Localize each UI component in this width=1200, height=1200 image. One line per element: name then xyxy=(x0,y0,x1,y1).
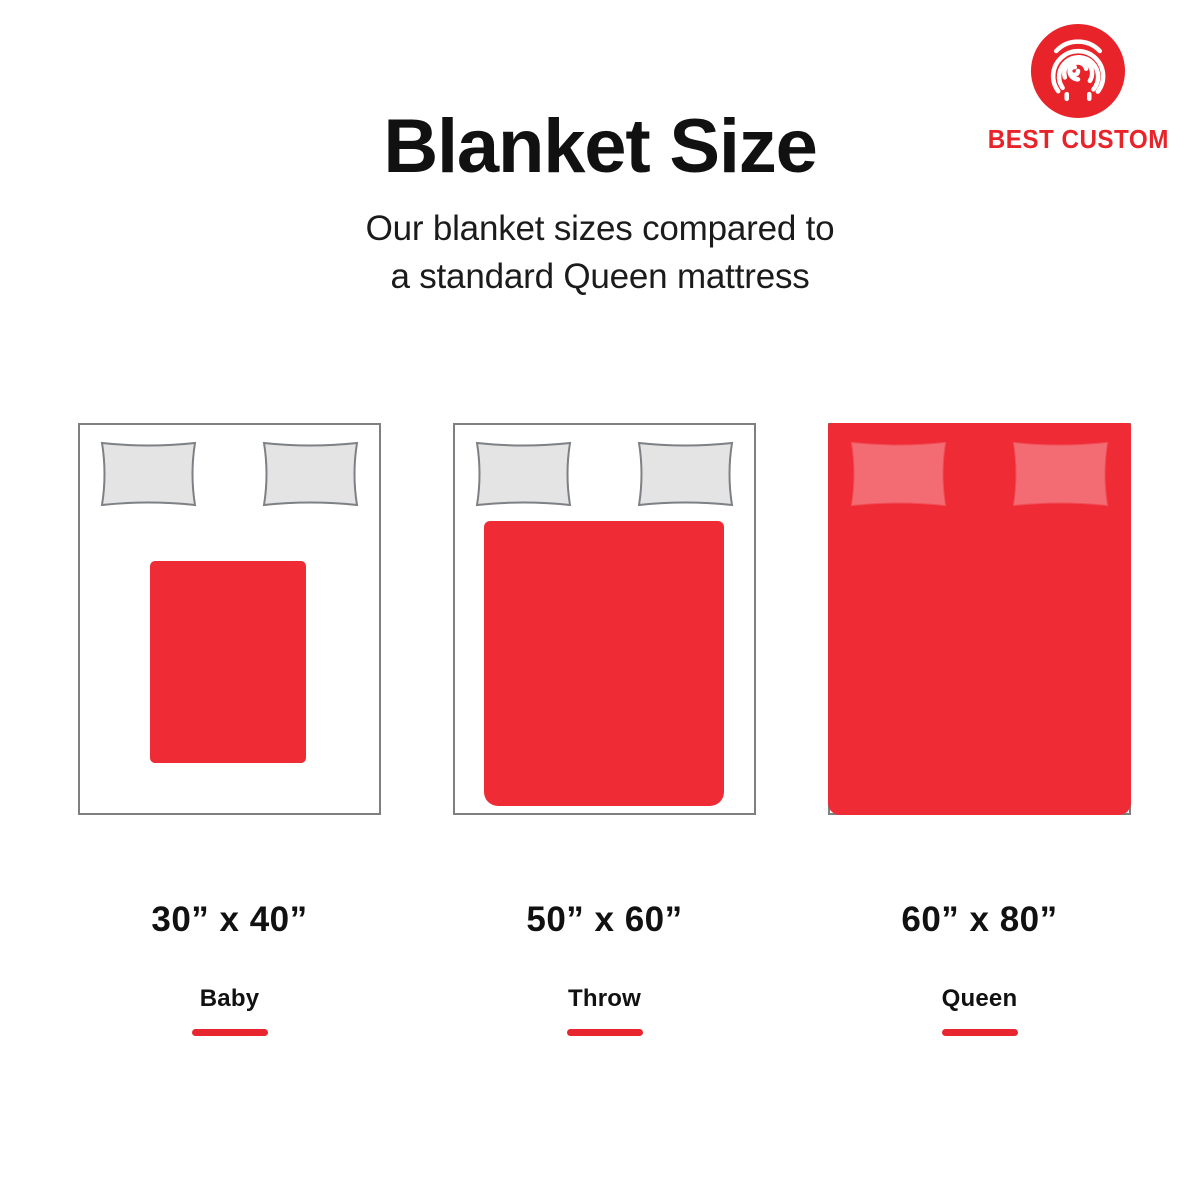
subtitle-line-2: a standard Queen mattress xyxy=(0,253,1200,301)
caption-queen: 60” x 80” Queen xyxy=(828,900,1131,1036)
page-subtitle: Our blanket sizes compared to a standard… xyxy=(0,205,1200,302)
pillow-left-icon xyxy=(847,439,950,509)
pillow-right-icon xyxy=(1009,439,1112,509)
size-dimensions: 60” x 80” xyxy=(828,900,1131,940)
size-dimensions: 30” x 40” xyxy=(78,900,381,940)
size-name: Queen xyxy=(828,985,1131,1013)
caption-baby: 30” x 40” Baby xyxy=(78,900,381,1036)
accent-underline xyxy=(192,1029,268,1036)
size-name: Baby xyxy=(78,985,381,1013)
bed-comparison-row xyxy=(0,423,1200,818)
page-title: Blanket Size xyxy=(0,104,1200,189)
bed-diagram-throw xyxy=(453,423,756,815)
pillow-left-icon xyxy=(472,439,575,509)
accent-underline xyxy=(567,1029,643,1036)
pillow-left-icon xyxy=(97,439,200,509)
bed-diagram-queen xyxy=(828,423,1131,815)
size-name: Throw xyxy=(453,985,756,1013)
bed-diagram-baby xyxy=(78,423,381,815)
subtitle-line-1: Our blanket sizes compared to xyxy=(0,205,1200,253)
blanket-swatch-throw xyxy=(484,521,724,806)
blanket-swatch-baby xyxy=(150,561,306,763)
accent-underline xyxy=(942,1029,1018,1036)
pillow-right-icon xyxy=(259,439,362,509)
pillow-right-icon xyxy=(634,439,737,509)
heading-block: Blanket Size Our blanket sizes compared … xyxy=(0,104,1200,302)
size-dimensions: 50” x 60” xyxy=(453,900,756,940)
caption-throw: 50” x 60” Throw xyxy=(453,900,756,1036)
blanket-size-infographic: BEST CUSTOM Blanket Size Our blanket siz… xyxy=(0,0,1200,1200)
